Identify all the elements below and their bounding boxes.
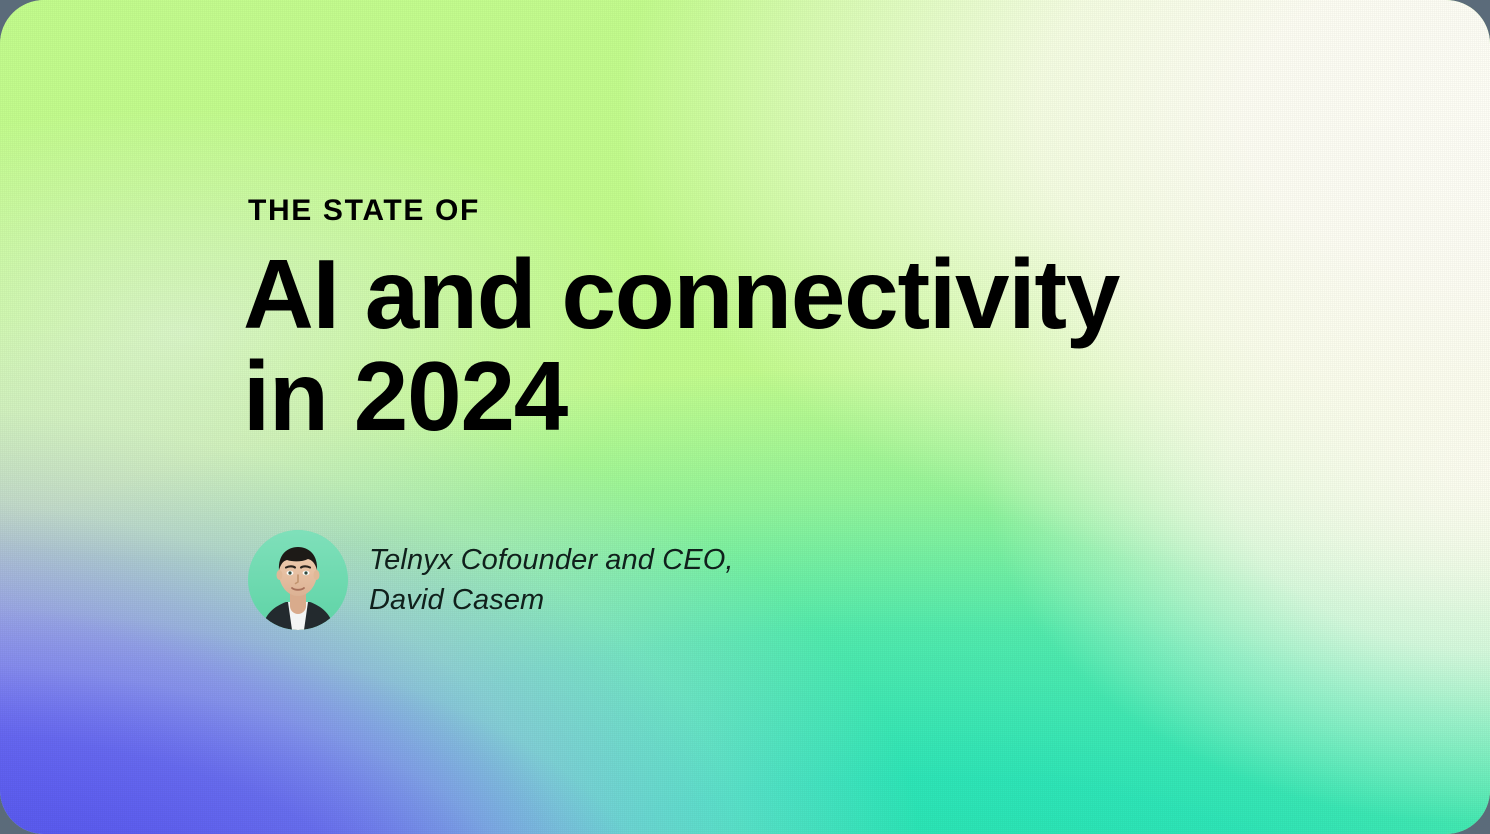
headline-line-1: AI and connectivity bbox=[243, 243, 1119, 345]
byline-line-1: Telnyx Cofounder and CEO, bbox=[369, 540, 734, 580]
byline-text: Telnyx Cofounder and CEO, David Casem bbox=[369, 540, 734, 620]
hero-card: THE STATE OF AI and connectivity in 2024 bbox=[0, 0, 1490, 834]
avatar bbox=[248, 530, 348, 630]
eyebrow-label: THE STATE OF bbox=[248, 196, 480, 226]
byline: Telnyx Cofounder and CEO, David Casem bbox=[248, 530, 734, 630]
hero-content: THE STATE OF AI and connectivity in 2024 bbox=[248, 0, 1348, 834]
page-title: AI and connectivity in 2024 bbox=[243, 243, 1119, 447]
headline-line-2: in 2024 bbox=[243, 345, 1119, 447]
byline-line-2: David Casem bbox=[369, 580, 734, 620]
